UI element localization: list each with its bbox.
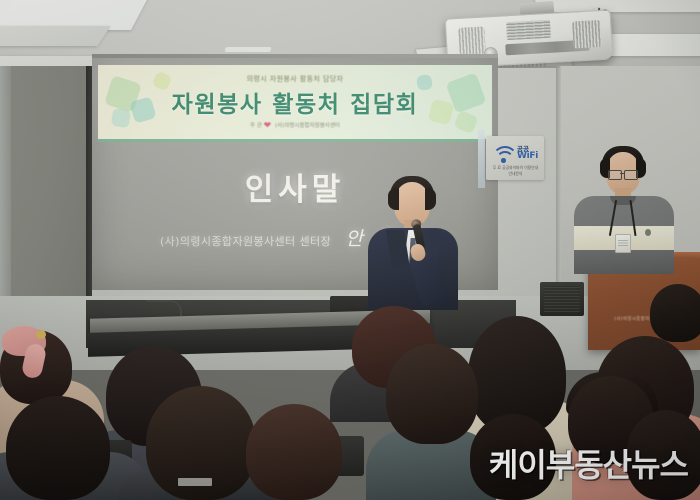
- heart-icon: ❤: [264, 121, 272, 131]
- wifi-dot: [501, 158, 506, 163]
- wifi-sign-line2: WiFi: [517, 151, 538, 161]
- microphone-arm: [146, 300, 182, 316]
- chair-label: [178, 478, 212, 486]
- wifi-sign-fine-print: 무 료 공공와이파이 이용안내 안내문의: [491, 165, 540, 176]
- staff-sweater-stripe: [574, 250, 674, 274]
- presenter-hair-side: [425, 188, 436, 210]
- hair-clip: [36, 330, 46, 339]
- wifi-icon: [492, 145, 514, 162]
- eyeglasses-bridge: [620, 173, 625, 174]
- eyeglasses-icon: [608, 170, 622, 180]
- eyeglasses-icon: [624, 170, 638, 180]
- projector-top-vent: [506, 20, 551, 40]
- loudspeaker: [540, 282, 584, 316]
- audience-head: [6, 396, 110, 500]
- photograph-seminar-room: 의령시 자원봉사 활동처 담당자 자원봉사 활동처 집담회 주 관 ❤ (사)의…: [0, 0, 700, 500]
- slide-banner: 의령시 자원봉사 활동처 담당자 자원봉사 활동처 집담회 주 관 ❤ (사)의…: [98, 65, 492, 139]
- left-wall-strip: [0, 66, 11, 316]
- presenter-hair-side: [388, 188, 399, 210]
- ceiling-fixture: [224, 47, 271, 52]
- public-wifi-sign: 공공 WiFi 무 료 공공와이파이 이용안내 안내문의: [486, 136, 544, 180]
- slide-heading: 인사말: [92, 164, 498, 209]
- projector-vent-grill: [572, 20, 601, 49]
- logo-prefix: 주 관: [250, 123, 262, 129]
- slide-banner-logo: 주 관 ❤ (사)의령시종합자원봉사센터: [98, 121, 492, 131]
- audience-head: [650, 284, 700, 342]
- audience-head: [246, 404, 342, 500]
- logo-org-name: (사)의령시종합자원봉사센터: [275, 123, 340, 129]
- slide-banner-underline: [98, 139, 492, 142]
- slide-banner-subtitle: 의령시 자원봉사 활동처 담당자: [98, 74, 492, 84]
- audience-head: [386, 344, 478, 444]
- slide-banner-title: 자원봉사 활동처 집담회: [98, 85, 492, 119]
- slide-credit-org: (사)의령시종합자원봉사센터 센터장: [160, 235, 331, 248]
- watermark-logo: 케이부동산뉴스: [489, 440, 688, 486]
- left-wall-panel: [0, 66, 86, 316]
- sweater-emblem: [645, 229, 651, 236]
- ceiling-light-panel: [0, 26, 111, 46]
- id-badge: [615, 234, 631, 253]
- projector-vent-grill: [458, 26, 485, 54]
- wall-light-strip: [478, 130, 485, 188]
